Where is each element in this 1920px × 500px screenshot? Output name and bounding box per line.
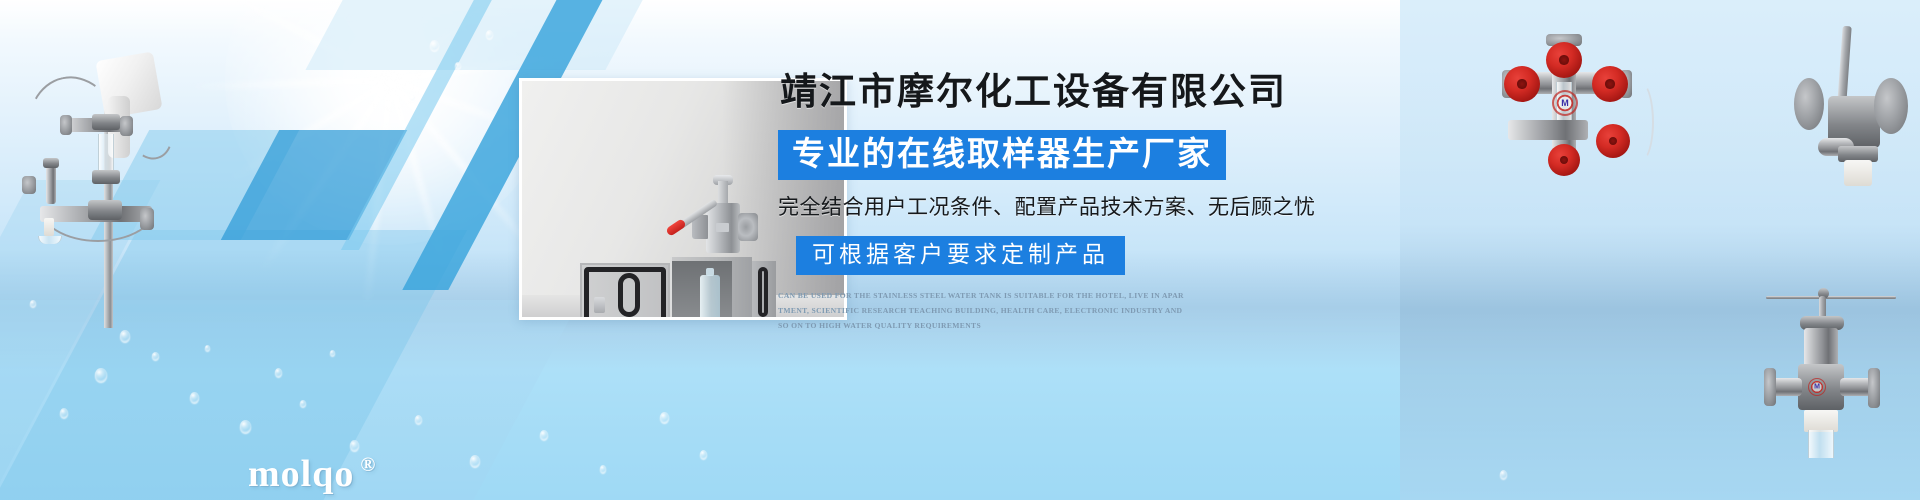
- sun-ray: [362, 80, 393, 309]
- badge-letter: M: [1814, 384, 1820, 391]
- lever-ball-end: [1818, 288, 1829, 299]
- relief-valve-cap: [43, 158, 59, 168]
- flange: [120, 116, 133, 136]
- sun-ray: [387, 78, 540, 259]
- watermark-text: molqo: [248, 452, 354, 496]
- sun-ray: [258, 78, 392, 273]
- ptfe-outlet: [1844, 160, 1872, 186]
- manifold-lower-arm: [1508, 120, 1588, 140]
- flange-left: [1502, 70, 1514, 98]
- bonnet-nut: [1800, 316, 1844, 330]
- left-product-online-sampler: [0, 18, 190, 318]
- water-drop: [700, 450, 707, 459]
- handwheel-right: [1592, 66, 1628, 102]
- water-drop: [410, 95, 415, 101]
- registered-trademark-icon: ®: [360, 454, 376, 477]
- brand-watermark: molqo ®: [248, 452, 376, 496]
- water-drop: [1500, 470, 1507, 479]
- english-description: CAN BE USED FOR THE STAINLESS STEEL WATE…: [778, 289, 1184, 333]
- ptfe-nozzle: [44, 218, 54, 236]
- sample-hose-upper: [17, 68, 130, 197]
- sun-ray: [185, 0, 391, 83]
- badge-letter: M: [1561, 98, 1569, 108]
- sample-hose-lower: [38, 168, 158, 242]
- flange-top: [1546, 34, 1582, 46]
- headline-badge: 专业的在线取样器生产厂家: [778, 130, 1226, 180]
- operating-lever: [1819, 296, 1826, 372]
- flange: [140, 208, 154, 230]
- door-window: [618, 273, 640, 317]
- mid-valve-body: [92, 170, 120, 184]
- operating-lever: [1837, 26, 1851, 104]
- enclosure-box: [95, 51, 162, 118]
- valve-body-block: [1828, 96, 1880, 148]
- sample-hose-right: [120, 99, 179, 166]
- manifold-horizontal-body: [1508, 72, 1624, 94]
- flange: [22, 176, 36, 194]
- manifold-sight-glass: [1556, 82, 1572, 130]
- mounting-pole: [104, 78, 113, 328]
- handwheel-top: [1546, 42, 1582, 78]
- relief-valve-stem: [46, 164, 56, 204]
- sun-ray: [227, 77, 392, 184]
- subheadline: 完全结合用户工况条件、配置产品技术方案、无后顾之忧: [778, 195, 1398, 221]
- brand-badge-icon: M: [1552, 90, 1578, 116]
- right-panel-gasket: [758, 267, 768, 317]
- sun-ray: [286, 0, 392, 82]
- inlet-port: [1772, 378, 1802, 396]
- right-product-lever-valve: [1766, 22, 1920, 207]
- sun-ray: [190, 77, 390, 91]
- valve-base: [1838, 146, 1878, 162]
- custom-product-tag: 可根据客户要求定制产品: [796, 236, 1125, 275]
- water-drop: [540, 430, 548, 440]
- water-drop: [455, 62, 461, 69]
- ptfe-outlet: [1804, 410, 1838, 432]
- upper-valve-body: [62, 118, 128, 132]
- flange: [60, 115, 72, 135]
- side-port: [1818, 138, 1854, 156]
- handwheel-bottom: [1548, 144, 1580, 176]
- manifold-tubing: [1628, 82, 1654, 162]
- flange-bottom: [1546, 126, 1582, 138]
- flange-left: [1794, 78, 1824, 130]
- enclosure-bracket: [108, 96, 130, 158]
- handwheel-lower-right: [1596, 124, 1630, 158]
- manifold-vertical-body: [1552, 34, 1576, 160]
- flange-right: [1620, 70, 1632, 98]
- flange-right: [1874, 78, 1908, 134]
- flange-left: [1764, 368, 1776, 406]
- door-latch: [594, 297, 605, 313]
- water-drop: [660, 412, 669, 423]
- banner-text-block: 靖江市摩尔化工设备有限公司 专业的在线取样器生产厂家 完全结合用户工况条件、配置…: [778, 70, 1398, 333]
- right-wash-gradient: [1400, 0, 1920, 500]
- collector-dish: [38, 236, 62, 244]
- right-product-valve-manifold: M: [1478, 28, 1658, 168]
- sample-bottle: [700, 275, 720, 320]
- decor-band-pale: [305, 0, 674, 70]
- outlet-port: [1840, 378, 1872, 396]
- top-tie-bar: [1766, 296, 1896, 299]
- mounted-sampling-valve: [688, 177, 760, 261]
- sun-ray: [387, 79, 447, 268]
- valve-nameplate: [716, 223, 729, 232]
- valve-flange-right: [738, 213, 758, 241]
- flange-right: [1868, 368, 1880, 408]
- right-product-bottom-valve: M: [1756, 268, 1920, 458]
- water-drop: [430, 40, 439, 51]
- lower-valve-manifold: [40, 206, 152, 222]
- valve-hub: [92, 114, 120, 130]
- decor-band-c: [221, 130, 407, 240]
- valve-bonnet: [1804, 328, 1838, 368]
- promo-banner: M M 靖江市摩尔化工设备有限公司 专业的在线取样器生产厂家 完全结合用户工况条…: [0, 0, 1920, 500]
- brand-badge-icon: M: [1808, 378, 1826, 396]
- sun-glow: [225, 0, 555, 245]
- valve-body: [1798, 364, 1844, 410]
- sample-tube: [1808, 430, 1834, 458]
- decor-band-d: [91, 130, 299, 240]
- handwheel-left: [1504, 66, 1540, 102]
- lower-valve-hub: [88, 200, 122, 220]
- sight-glass-tube: [98, 134, 114, 174]
- water-drop: [600, 465, 606, 473]
- sun-ray: [388, 0, 538, 83]
- sun-ray: [387, 0, 491, 81]
- sun-ray: [372, 0, 394, 80]
- decor-band-b: [341, 0, 513, 250]
- water-drop: [486, 30, 493, 39]
- company-name: 靖江市摩尔化工设备有限公司: [780, 70, 1398, 116]
